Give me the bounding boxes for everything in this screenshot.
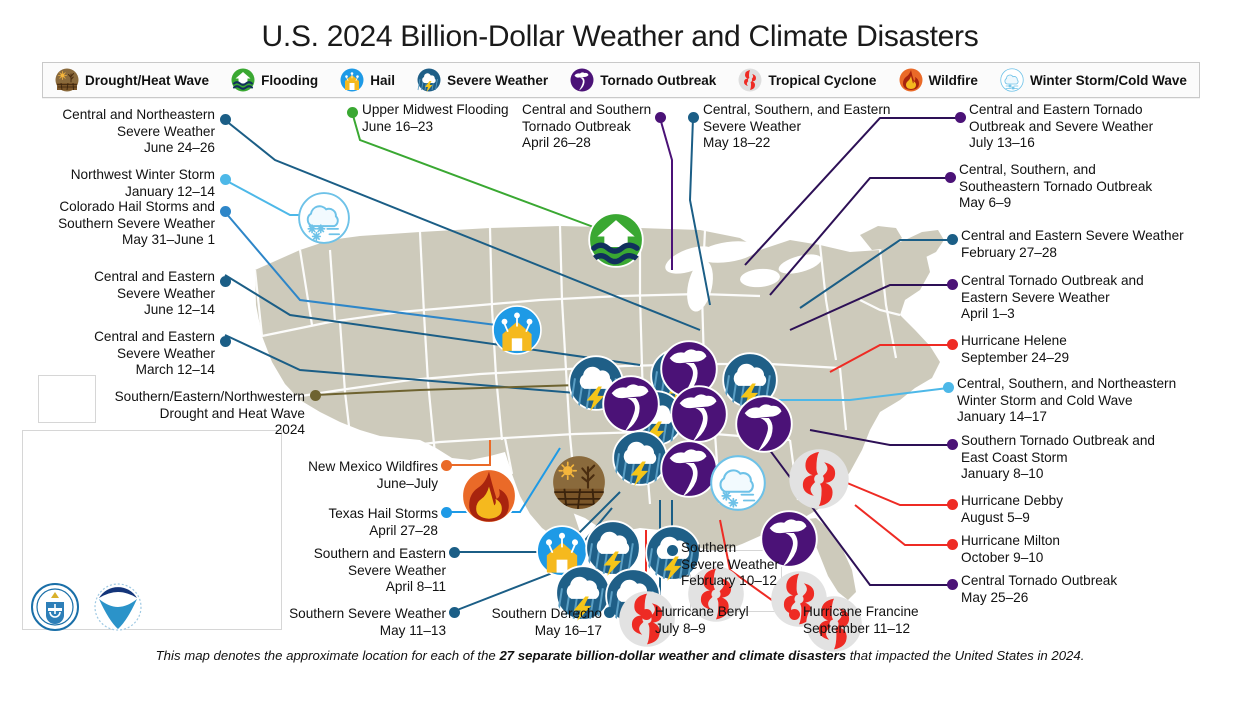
legend-label: Winter Storm/Cold Wave <box>1030 73 1187 88</box>
callout-dot-winter[interactable] <box>220 174 231 185</box>
tornado-outbreak-icon <box>570 68 594 92</box>
callout-upper-midwest-flooding[interactable]: Upper Midwest Flooding June 16–23 <box>362 102 509 135</box>
callout-dot-hail[interactable] <box>441 507 452 518</box>
callout-line: May 18–22 <box>703 135 890 152</box>
department-of-commerce-seal <box>32 584 78 630</box>
legend-item-wildfire: Wildfire <box>899 68 978 92</box>
callout-line: June 24–26 <box>10 140 215 157</box>
leader-debby <box>840 480 952 505</box>
map-icon-tornado-4[interactable] <box>735 395 793 453</box>
callout-line: January 12–14 <box>10 184 215 201</box>
callout-line: Hurricane Helene <box>961 333 1069 350</box>
callout-line: Hurricane Francine <box>803 604 919 621</box>
callout-line: Upper Midwest Flooding <box>362 102 509 119</box>
callout-northwest-winter-storm[interactable]: Northwest Winter Storm January 12–14 <box>10 167 215 200</box>
callout-line: Hurricane Beryl <box>655 604 749 621</box>
leader-csse-tornado-may <box>770 178 950 295</box>
footnote-bold: 27 separate billion-dollar weather and c… <box>499 648 846 663</box>
callout-dot-tornado[interactable] <box>947 439 958 450</box>
noaa-logo: NOAA <box>95 584 141 630</box>
callout-line: May 25–26 <box>961 590 1117 607</box>
callout-line: Severe Weather <box>10 124 215 141</box>
callout-line: New Mexico Wildfires <box>230 459 438 476</box>
callout-dot-drought[interactable] <box>310 390 321 401</box>
callout-line: June 16–23 <box>362 119 509 136</box>
wildfire-icon <box>899 68 923 92</box>
map-icon-hail-colorado[interactable] <box>492 305 542 355</box>
callout-hurricane-milton[interactable]: Hurricane Milton October 9–10 <box>961 533 1060 566</box>
callout-line: Southern Severe Weather <box>10 216 215 233</box>
legend-label: Flooding <box>261 73 318 88</box>
callout-line: Severe Weather <box>703 119 890 136</box>
callout-dot-cyclone[interactable] <box>641 609 652 620</box>
callout-central-eastern-severe-weather-march[interactable]: Central and Eastern Severe Weather March… <box>10 329 215 379</box>
agency-logos: NOAA <box>30 582 150 632</box>
map-icon-tornado-2[interactable] <box>602 375 660 433</box>
callout-dot-flooding[interactable] <box>347 107 358 118</box>
callout-southern-eastern-severe-weather[interactable]: Southern and Eastern Severe Weather Apri… <box>230 546 446 596</box>
legend-label: Hail <box>370 73 395 88</box>
leader-csn-winter <box>762 388 948 400</box>
callout-dot-severe[interactable] <box>220 114 231 125</box>
severe-weather-icon <box>417 68 441 92</box>
callout-dot-tornado[interactable] <box>945 172 956 183</box>
callout-hurricane-francine[interactable]: Hurricane Francine September 11–12 <box>803 604 919 637</box>
callout-southern-severe-weather-may[interactable]: Southern Severe Weather May 11–13 <box>230 606 446 639</box>
callout-line: July 8–9 <box>655 621 749 638</box>
callout-line: Central, Southern, and Eastern <box>703 102 890 119</box>
callout-line: Southeastern Tornado Outbreak <box>959 179 1152 196</box>
callout-central-southern-eastern-severe-weather[interactable]: Central, Southern, and Eastern Severe We… <box>703 102 890 152</box>
map-icon-tropical-cyclone-helene[interactable] <box>788 448 850 510</box>
callout-central-southern-tornado-outbreak[interactable]: Central and Southern Tornado Outbreak Ap… <box>522 102 651 152</box>
callout-dot-cyclone[interactable] <box>789 609 800 620</box>
callout-line: Texas Hail Storms <box>230 506 438 523</box>
callout-dot-severe[interactable] <box>220 276 231 287</box>
callout-line: May 11–13 <box>230 623 446 640</box>
callout-line: Severe Weather <box>10 286 215 303</box>
legend-item-flooding: Flooding <box>231 68 318 92</box>
page-title: U.S. 2024 Billion-Dollar Weather and Cli… <box>0 20 1240 54</box>
map-icon-winter-storm-northwest[interactable] <box>298 192 350 244</box>
callout-line: Eastern Severe Weather <box>961 290 1144 307</box>
callout-colorado-hail-storms[interactable]: Colorado Hail Storms and Southern Severe… <box>10 199 215 249</box>
callout-line: East Coast Storm <box>961 450 1155 467</box>
leader-ce-severe-feb <box>800 240 952 308</box>
callout-line: Central and Southern <box>522 102 651 119</box>
callout-central-eastern-severe-weather-june[interactable]: Central and Eastern Severe Weather June … <box>10 269 215 319</box>
callout-central-eastern-tornado-july[interactable]: Central and Eastern Tornado Outbreak and… <box>969 102 1153 152</box>
callout-dot-tornado[interactable] <box>947 579 958 590</box>
callout-line: Central and Eastern Severe Weather <box>961 228 1184 245</box>
callout-line: September 11–12 <box>803 621 919 638</box>
footnote-post: that impacted the United States in 2024. <box>846 648 1084 663</box>
callout-line: May 16–17 <box>420 623 602 640</box>
legend-item-drought-heat-wave: Drought/Heat Wave <box>55 68 209 92</box>
callout-line: January 14–17 <box>957 409 1176 426</box>
callout-line: October 9–10 <box>961 550 1060 567</box>
callout-dot-severe[interactable] <box>688 112 699 123</box>
callout-central-southern-northeastern-winter-storm[interactable]: Central, Southern, and Northeastern Wint… <box>957 376 1176 426</box>
callout-line: Tornado Outbreak <box>522 119 651 136</box>
callout-line: Southern Tornado Outbreak and <box>961 433 1155 450</box>
callout-line: April 26–28 <box>522 135 651 152</box>
leader-helene <box>830 345 952 372</box>
callout-line: April 8–11 <box>230 579 446 596</box>
legend-label: Tropical Cyclone <box>768 73 876 88</box>
callout-dot-severe[interactable] <box>667 545 678 556</box>
callout-line: August 5–9 <box>961 510 1063 527</box>
callout-line: May 6–9 <box>959 195 1152 212</box>
leader-colorado-hail <box>225 212 520 328</box>
callout-line: Southern <box>681 540 779 557</box>
callout-line: Central Tornado Outbreak and <box>961 273 1144 290</box>
callout-dot-severe[interactable] <box>604 607 615 618</box>
callout-central-southern-southeastern-tornado[interactable]: Central, Southern, and Southeastern Torn… <box>959 162 1152 212</box>
callout-line: Drought and Heat Wave <box>80 406 305 423</box>
callout-line: Severe Weather <box>230 563 446 580</box>
callout-line: Southern Severe Weather <box>230 606 446 623</box>
callout-line: Outbreak and Severe Weather <box>969 119 1153 136</box>
legend-item-winter-storm-cold-wave: Winter Storm/Cold Wave <box>1000 68 1187 92</box>
callout-central-northeastern-severe-weather[interactable]: Central and Northeastern Severe Weather … <box>10 107 215 157</box>
callout-dot-severe[interactable] <box>449 547 460 558</box>
callout-line: June–July <box>230 476 438 493</box>
callout-dot-wildfire[interactable] <box>441 460 452 471</box>
leader-milton <box>855 505 952 545</box>
svg-text:NOAA: NOAA <box>109 594 127 600</box>
legend-item-severe-weather: Severe Weather <box>417 68 548 92</box>
callout-line: February 10–12 <box>681 573 779 590</box>
callout-line: Central and Eastern Tornado <box>969 102 1153 119</box>
callout-line: Northwest Winter Storm <box>10 167 215 184</box>
callout-dot-cyclone[interactable] <box>947 499 958 510</box>
map-icon-winter-storm-central[interactable] <box>710 455 766 511</box>
footnote: This map denotes the approximate locatio… <box>0 648 1240 663</box>
callout-central-tornado-outbreak-may[interactable]: Central Tornado Outbreak May 25–26 <box>961 573 1117 606</box>
callout-line: April 27–28 <box>230 523 438 540</box>
legend-item-tropical-cyclone: Tropical Cyclone <box>738 68 876 92</box>
callout-line: Central and Eastern <box>10 329 215 346</box>
map-icon-tornado-3[interactable] <box>670 385 728 443</box>
callout-line: Hurricane Debby <box>961 493 1063 510</box>
callout-dot-tornado[interactable] <box>655 112 666 123</box>
flooding-icon <box>231 68 255 92</box>
callout-new-mexico-wildfires[interactable]: New Mexico Wildfires June–July <box>230 459 438 492</box>
callout-dot-tornado[interactable] <box>947 279 958 290</box>
callout-line: Central and Northeastern <box>10 107 215 124</box>
callout-line: Southern Derecho <box>420 606 602 623</box>
callout-central-eastern-severe-weather-february[interactable]: Central and Eastern Severe Weather Febru… <box>961 228 1184 261</box>
legend: Drought/Heat Wave Flooding <box>42 62 1200 98</box>
drought-heat-wave-icon <box>55 68 79 92</box>
leader-central-southern-tornado <box>660 118 672 270</box>
callout-line: May 31–June 1 <box>10 232 215 249</box>
callout-southern-derecho[interactable]: Southern Derecho May 16–17 <box>420 606 602 639</box>
callout-line: Colorado Hail Storms and <box>10 199 215 216</box>
callout-line: Central Tornado Outbreak <box>961 573 1117 590</box>
footnote-pre: This map denotes the approximate locatio… <box>156 648 500 663</box>
callout-hurricane-beryl[interactable]: Hurricane Beryl July 8–9 <box>655 604 749 637</box>
callout-line: Severe Weather <box>681 557 779 574</box>
callout-line: September 24–29 <box>961 350 1069 367</box>
callout-dot-severe[interactable] <box>947 234 958 245</box>
callout-line: Central, Southern, and Northeastern <box>957 376 1176 393</box>
callout-line: July 13–16 <box>969 135 1153 152</box>
callout-line: Central and Eastern <box>10 269 215 286</box>
callout-line: Hurricane Milton <box>961 533 1060 550</box>
callout-southern-severe-weather-february[interactable]: Southern Severe Weather February 10–12 <box>681 540 779 590</box>
map-icon-severe-weather-5[interactable] <box>612 430 668 486</box>
map-icon-wildfire-new-mexico[interactable] <box>461 468 517 524</box>
callout-dot-cyclone[interactable] <box>947 339 958 350</box>
legend-item-tornado-outbreak: Tornado Outbreak <box>570 68 716 92</box>
leader-central-tornado-apr <box>790 285 952 330</box>
callout-line: Central, Southern, and <box>959 162 1152 179</box>
map-icon-flooding-upper-midwest[interactable] <box>588 212 644 268</box>
callout-line: January 8–10 <box>961 466 1155 483</box>
legend-label: Drought/Heat Wave <box>85 73 209 88</box>
callout-central-tornado-outbreak-april[interactable]: Central Tornado Outbreak and Eastern Sev… <box>961 273 1144 323</box>
callout-line: Southern and Eastern <box>230 546 446 563</box>
callout-dot-hail[interactable] <box>220 206 231 217</box>
callout-dot-tornado[interactable] <box>955 112 966 123</box>
callout-line: March 12–14 <box>10 362 215 379</box>
hail-icon <box>340 68 364 92</box>
callout-line: April 1–3 <box>961 306 1144 323</box>
winter-storm-cold-wave-icon <box>1000 68 1024 92</box>
callout-southern-tornado-east-coast-storm[interactable]: Southern Tornado Outbreak and East Coast… <box>961 433 1155 483</box>
callout-dot-winter[interactable] <box>943 382 954 393</box>
callout-hurricane-helene[interactable]: Hurricane Helene September 24–29 <box>961 333 1069 366</box>
map-icon-drought-heat-wave[interactable] <box>552 455 606 509</box>
callout-hurricane-debby[interactable]: Hurricane Debby August 5–9 <box>961 493 1063 526</box>
leader-central-eastern-june <box>225 275 640 365</box>
callout-texas-hail-storms[interactable]: Texas Hail Storms April 27–28 <box>230 506 438 539</box>
leader-southern-tornado-jan <box>810 430 952 445</box>
legend-label: Severe Weather <box>447 73 548 88</box>
callout-line: June 12–14 <box>10 302 215 319</box>
callout-line: 2024 <box>80 422 305 439</box>
callout-line: Severe Weather <box>10 346 215 363</box>
callout-line: Winter Storm and Cold Wave <box>957 393 1176 410</box>
callout-dot-cyclone[interactable] <box>947 539 958 550</box>
map-icon-tornado-5[interactable] <box>660 440 718 498</box>
callout-drought-heat-wave[interactable]: Southern/Eastern/Northwestern Drought an… <box>80 389 305 439</box>
callout-dot-severe[interactable] <box>220 336 231 347</box>
legend-label: Wildfire <box>929 73 978 88</box>
callout-line: February 27–28 <box>961 245 1184 262</box>
legend-label: Tornado Outbreak <box>600 73 716 88</box>
map-container: Central and Northeastern Severe Weather … <box>0 100 1240 645</box>
callout-line: Southern/Eastern/Northwestern <box>80 389 305 406</box>
legend-item-hail: Hail <box>340 68 395 92</box>
tropical-cyclone-icon <box>738 68 762 92</box>
